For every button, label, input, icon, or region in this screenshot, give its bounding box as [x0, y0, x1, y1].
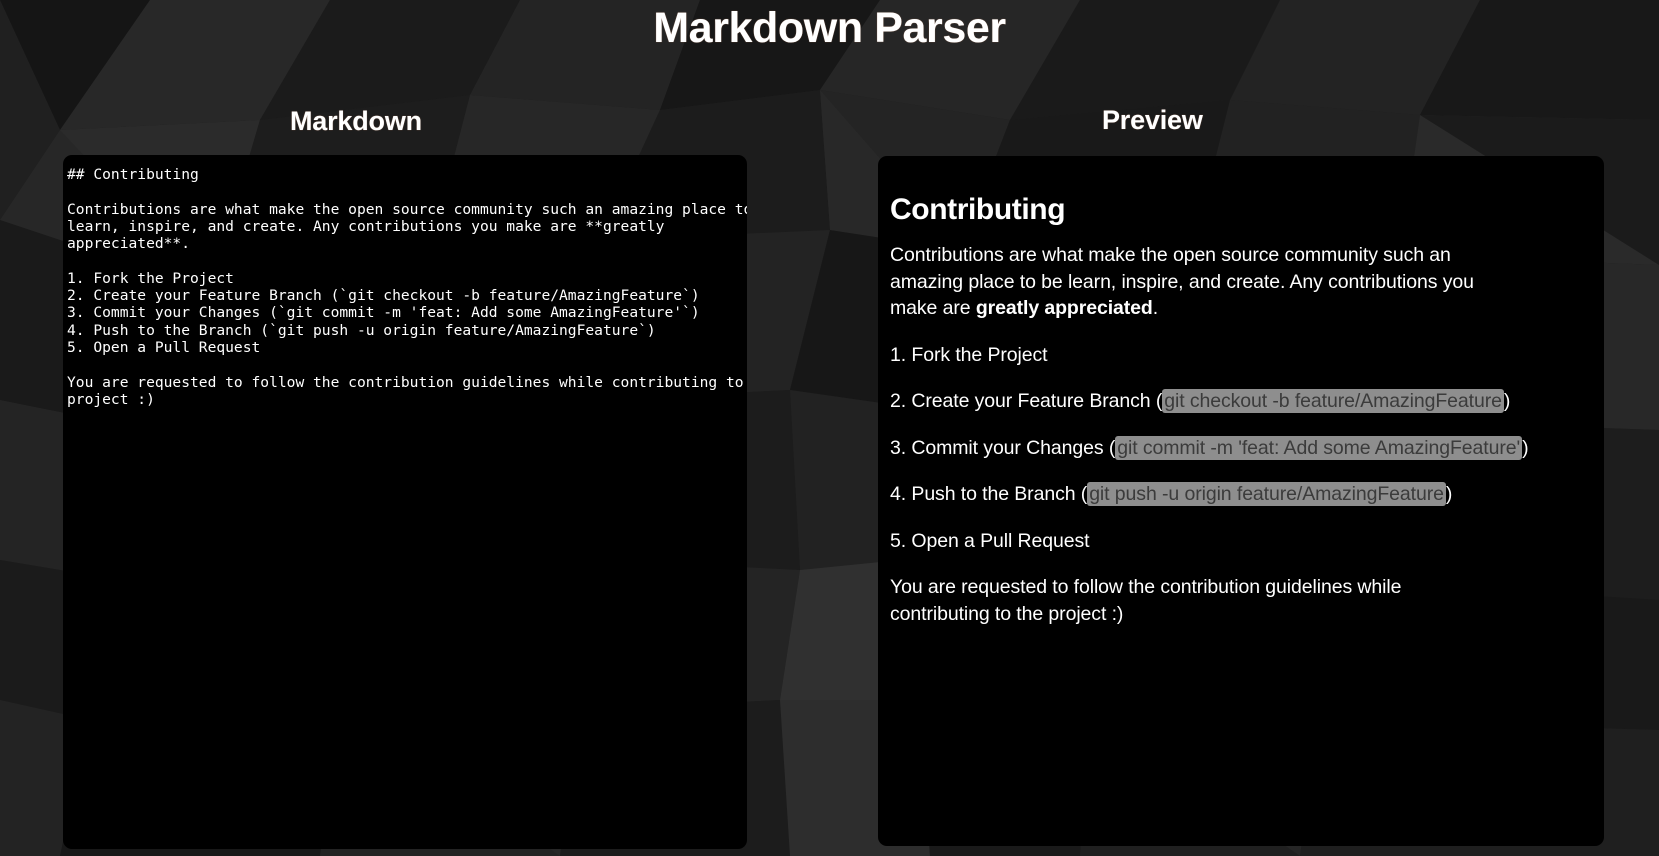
list-text: Open a Pull Request: [911, 530, 1089, 552]
preview-column-heading: Preview: [1102, 105, 1203, 136]
preview-heading-contributing: Contributing: [890, 192, 1490, 228]
list-item: 5. Open a Pull Request: [890, 528, 1490, 555]
list-item: 2. Create your Feature Branch (git check…: [890, 388, 1490, 415]
preview-panel: Contributing Contributions are what make…: [878, 156, 1604, 846]
list-marker: 3.: [890, 437, 906, 459]
preview-paragraph-intro: Contributions are what make the open sou…: [890, 242, 1490, 322]
intro-text-after-bold: .: [1153, 297, 1158, 319]
list-marker: 2.: [890, 390, 906, 412]
list-marker: 1.: [890, 344, 906, 366]
list-text: Push to the Branch (: [911, 483, 1087, 505]
inline-code: git checkout -b feature/AmazingFeature: [1162, 389, 1504, 413]
list-item: 4. Push to the Branch (git push -u origi…: [890, 481, 1490, 508]
list-text: Fork the Project: [911, 344, 1047, 366]
inline-code: git commit -m 'feat: Add some AmazingFea…: [1115, 436, 1522, 460]
list-text-suffix: ): [1522, 437, 1528, 459]
list-marker: 4.: [890, 483, 906, 505]
list-text-suffix: ): [1446, 483, 1452, 505]
list-marker: 5.: [890, 530, 906, 552]
rendered-markdown: Contributing Contributions are what make…: [890, 192, 1490, 627]
list-item: 1. Fork the Project: [890, 342, 1490, 369]
inline-code: git push -u origin feature/AmazingFeatur…: [1087, 482, 1446, 506]
list-item: 3. Commit your Changes (git commit -m 'f…: [890, 435, 1490, 462]
app-root: Markdown Parser Markdown Preview Contrib…: [0, 0, 1659, 856]
list-text: Create your Feature Branch (: [911, 390, 1162, 412]
page-title: Markdown Parser: [0, 2, 1659, 56]
preview-paragraph-outro: You are requested to follow the contribu…: [890, 574, 1490, 627]
intro-bold-text: greatly appreciated: [976, 297, 1153, 319]
list-text-suffix: ): [1504, 390, 1510, 412]
markdown-input[interactable]: [63, 155, 747, 849]
markdown-column-heading: Markdown: [290, 106, 422, 137]
list-text: Commit your Changes (: [911, 437, 1115, 459]
